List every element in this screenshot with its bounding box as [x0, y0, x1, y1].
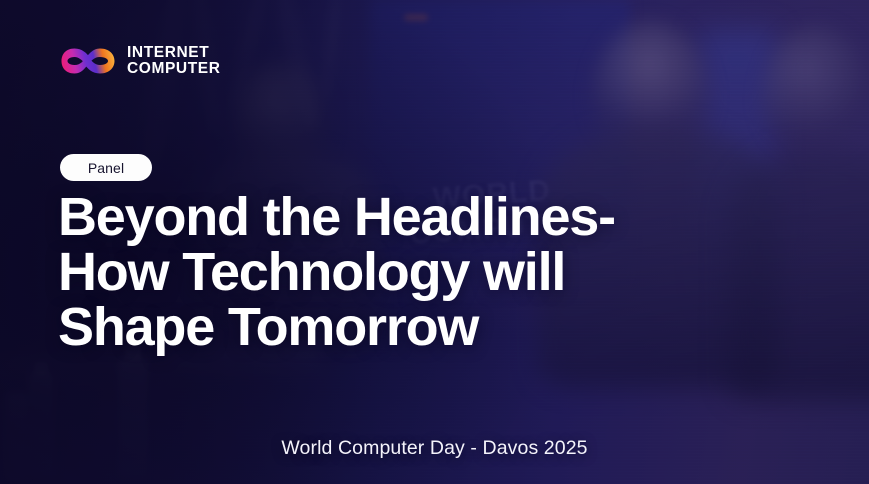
event-footer-text: World Computer Day - Davos 2025: [0, 437, 869, 460]
headline-line-2: How Technology will: [58, 245, 658, 300]
brand-wordmark: INTERNET COMPUTER: [127, 45, 221, 78]
headline-line-3: Shape Tomorrow: [58, 300, 658, 355]
headline-line-1: Beyond the Headlines-: [58, 190, 658, 245]
brand-name-line2: COMPUTER: [127, 61, 221, 78]
page-title: Beyond the Headlines- How Technology wil…: [58, 190, 658, 355]
infinity-logo-icon: [60, 44, 116, 78]
card-content: INTERNET COMPUTER Panel Beyond the Headl…: [0, 0, 869, 484]
panel-badge: Panel: [60, 154, 152, 181]
event-promo-card: WORLD COMPUTER: [0, 0, 869, 484]
brand-name-line1: INTERNET: [127, 45, 221, 62]
brand-logo: INTERNET COMPUTER: [60, 44, 221, 78]
